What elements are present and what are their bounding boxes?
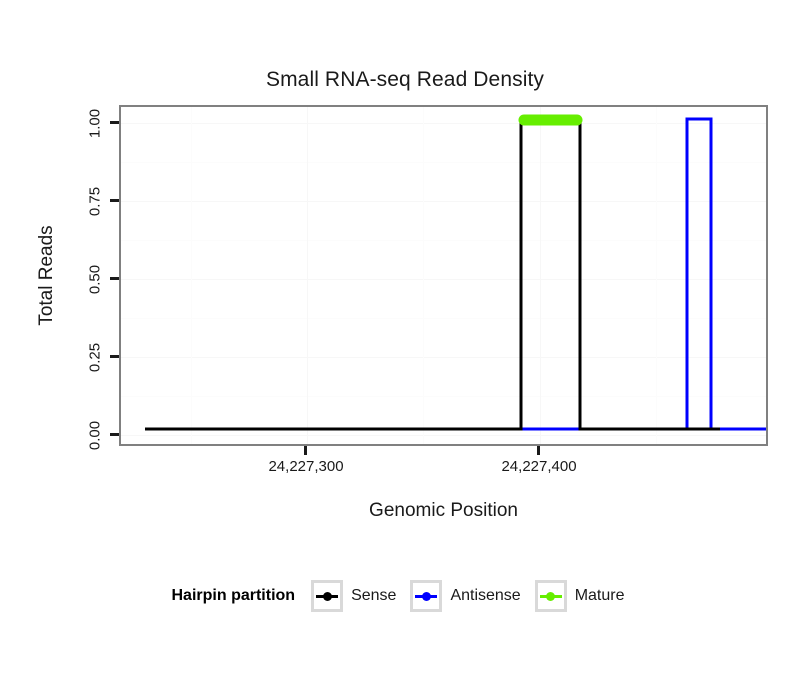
y-tick-label: 0.00 bbox=[87, 421, 104, 450]
x-tick-labels: 24,227,300 24,227,400 bbox=[119, 446, 768, 476]
chart-title: Small RNA-seq Read Density bbox=[0, 68, 810, 92]
y-tick-mark bbox=[110, 121, 119, 124]
chart-legend: Hairpin partition Sense Antisense Mature bbox=[0, 580, 810, 612]
x-tick-label: 24,227,400 bbox=[501, 458, 576, 475]
x-axis-title: Genomic Position bbox=[119, 500, 768, 522]
y-tick-mark bbox=[110, 277, 119, 280]
legend-item-mature[interactable]: Mature bbox=[535, 580, 625, 612]
series-plot-area bbox=[121, 107, 766, 444]
x-tick-label: 24,227,300 bbox=[268, 458, 343, 475]
legend-label-sense: Sense bbox=[351, 587, 396, 605]
y-tick-label: 0.25 bbox=[87, 343, 104, 372]
series-sense-line bbox=[145, 119, 720, 429]
y-tick-labels: 1.00 0.75 0.50 0.25 0.00 bbox=[0, 105, 109, 446]
legend-title: Hairpin partition bbox=[172, 587, 296, 605]
legend-label-mature: Mature bbox=[575, 587, 625, 605]
legend-item-sense[interactable]: Sense bbox=[311, 580, 396, 612]
legend-key-mature-icon bbox=[535, 580, 567, 612]
series-antisense-line bbox=[145, 119, 766, 429]
plot-panel bbox=[119, 105, 768, 446]
legend-key-antisense-icon bbox=[410, 580, 442, 612]
chart-figure: Small RNA-seq Read Density Total Reads 1… bbox=[0, 0, 810, 690]
y-axis-ticks bbox=[109, 105, 119, 446]
y-tick-label: 1.00 bbox=[87, 109, 104, 138]
y-tick-mark bbox=[110, 433, 119, 436]
y-tick-mark bbox=[110, 355, 119, 358]
y-tick-label: 0.75 bbox=[87, 187, 104, 216]
legend-item-antisense[interactable]: Antisense bbox=[410, 580, 520, 612]
legend-label-antisense: Antisense bbox=[450, 587, 520, 605]
legend-key-sense-icon bbox=[311, 580, 343, 612]
y-tick-mark bbox=[110, 199, 119, 202]
y-tick-label: 0.50 bbox=[87, 265, 104, 294]
